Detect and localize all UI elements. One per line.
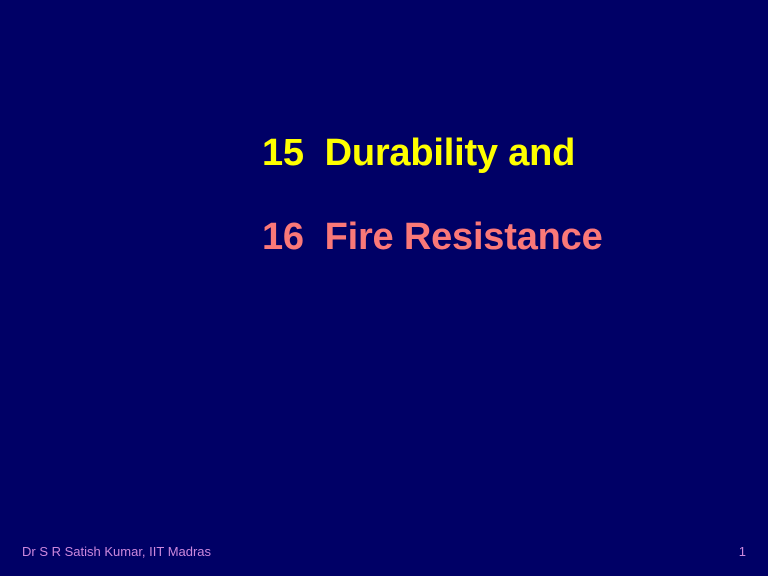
title-line-durability: 15 Durability and (262, 130, 722, 176)
title-line-fire-resistance: 16 Fire Resistance (262, 214, 722, 260)
footer-page-number: 1 (726, 543, 746, 561)
slide-title-block: 15 Durability and 16 Fire Resistance (262, 130, 722, 260)
slide-footer: Dr S R Satish Kumar, IIT Madras 1 (0, 543, 768, 561)
presentation-slide: 15 Durability and 16 Fire Resistance Dr … (0, 0, 768, 576)
footer-author-text: Dr S R Satish Kumar, IIT Madras (22, 543, 211, 561)
title-line-spacer (262, 176, 722, 214)
